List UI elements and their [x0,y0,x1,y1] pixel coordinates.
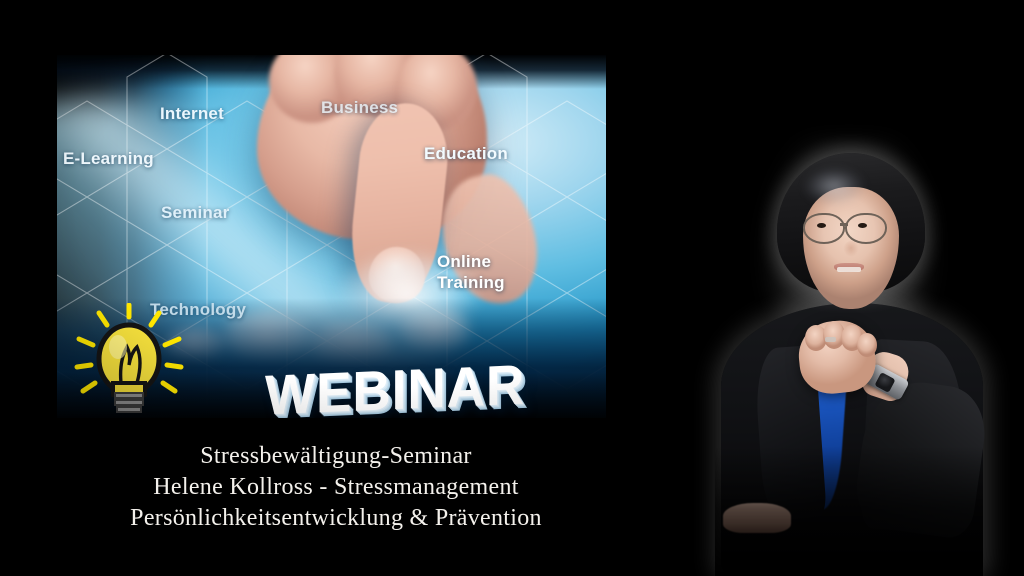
eye-right [858,223,867,228]
portrait-bottom-fade [715,446,983,576]
speaker-portrait [715,135,983,576]
slide-canvas: E-Learning Internet Business Seminar Edu… [0,0,1024,576]
caption-line-1: Stressbewältigung-Seminar [0,441,672,472]
hand-knuckle [857,333,877,357]
webinar-image: E-Learning Internet Business Seminar Edu… [57,55,606,418]
eyeglasses-right-lens [845,213,887,244]
caption-line-2: Helene Kollross - Stressmanagement [0,472,672,503]
photo-vignette [57,55,606,418]
finger-ring [825,337,836,342]
eyeglasses-bridge [840,223,848,226]
eyeglasses-left-lens [803,213,845,244]
caption-line-3: Persönlichkeitsentwicklung & Prävention [0,503,672,534]
caption-block: Stressbewältigung-Seminar Helene Kollros… [0,441,672,534]
nose [843,241,859,259]
eye-left [817,223,826,228]
head [777,153,925,329]
hair-highlight [803,167,881,215]
teeth [837,267,861,272]
